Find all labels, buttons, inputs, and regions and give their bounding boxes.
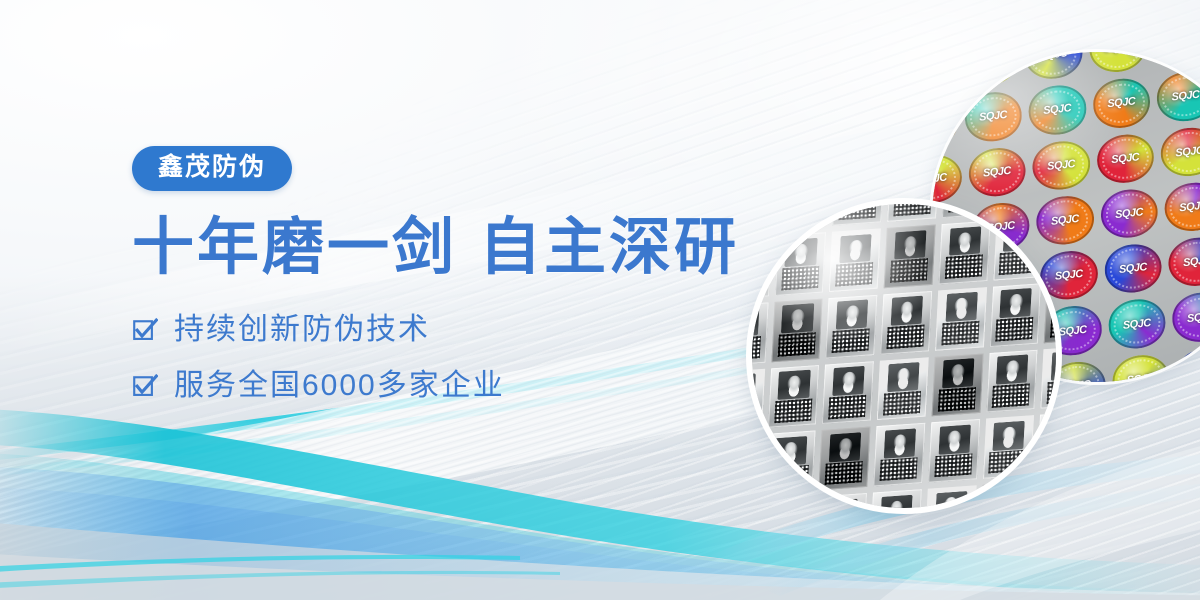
holo-label-dot: SQJC (1091, 76, 1152, 130)
label-qr-code (992, 384, 1030, 408)
label-emblem (752, 374, 755, 404)
label-emblem (839, 234, 872, 264)
list-item-label: 服务全国6000多家企业 (174, 371, 505, 401)
label-emblem (829, 433, 862, 463)
holo-label-dot: SQJC (1167, 235, 1200, 289)
label-qr-code (944, 255, 982, 279)
silver-label-square (1044, 280, 1056, 344)
silver-label-square (829, 229, 881, 293)
silver-label-square (938, 221, 990, 285)
holo-label-dot: SQJC (959, 52, 1020, 89)
holo-label-dot: SQJC (932, 152, 963, 206)
label-emblem (999, 289, 1032, 319)
label-emblem (883, 429, 916, 459)
label-qr-code (752, 403, 757, 427)
holo-label-dot: SQJC (1151, 52, 1200, 68)
promo-banner: 鑫茂防伪 十年磨一剑自主深研 持续创新防伪技术 服务全国6000多家企业 (0, 0, 1200, 600)
feature-list: 持续创新防伪技术 服务全国6000多家企业 (132, 315, 772, 401)
label-qr-code (947, 204, 985, 213)
silver-label-square (992, 217, 1044, 281)
label-emblem (938, 425, 971, 455)
silver-label-square (934, 287, 986, 351)
label-emblem (1003, 223, 1036, 253)
list-item: 持续创新防伪技术 (132, 315, 772, 345)
silver-label-square (774, 232, 826, 296)
holo-label-dot: SQJC (1103, 242, 1164, 296)
label-emblem (1043, 484, 1056, 508)
label-qr-code (1043, 446, 1056, 470)
label-qr-code (1002, 204, 1040, 209)
label-emblem (774, 437, 807, 467)
silver-label-square (1037, 412, 1056, 476)
label-qr-code (889, 259, 927, 283)
label-qr-code (835, 263, 873, 287)
label-qr-code (934, 454, 972, 478)
label-qr-code (770, 465, 808, 489)
silver-label-square (767, 365, 819, 429)
label-qr-code (937, 388, 975, 412)
label-emblem (890, 296, 923, 326)
silver-label-square (771, 299, 823, 363)
silver-label-square (887, 204, 939, 222)
list-item-label: 持续创新防伪技术 (174, 315, 430, 345)
label-emblem (880, 495, 913, 508)
silver-label-square (982, 416, 1034, 480)
label-qr-code (838, 204, 876, 221)
holo-label-dot: SQJC (1107, 297, 1168, 351)
holo-label-dot: SQJC (932, 52, 955, 95)
silver-label-square (876, 357, 928, 421)
checkbox-checked-icon (132, 373, 158, 399)
label-qr-code (824, 462, 862, 486)
label-emblem (770, 503, 803, 508)
silver-label-square (1040, 346, 1056, 410)
label-qr-code (941, 321, 979, 345)
label-emblem (1054, 285, 1056, 315)
label-emblem (948, 226, 981, 256)
list-item: 服务全国6000多家企业 (132, 371, 772, 401)
holo-label-dot: SQJC (1175, 345, 1200, 382)
holo-label-dot: SQJC (967, 145, 1028, 199)
silver-label-grid (752, 204, 1056, 508)
holo-label-dot: SQJC (1159, 125, 1200, 179)
brand-badge: 鑫茂防伪 (132, 146, 292, 191)
label-emblem (992, 421, 1025, 451)
silver-label-square (924, 486, 976, 508)
silver-label-square (752, 369, 764, 433)
silver-label-square (931, 353, 983, 417)
checkbox-checked-icon (132, 317, 158, 343)
holo-label-dot: SQJC (1087, 52, 1148, 75)
silver-label-square (941, 204, 993, 218)
silver-label-square (869, 490, 921, 508)
page-title: 十年磨一剑自主深研 (132, 215, 772, 281)
holo-label-dot: SQJC (1110, 352, 1171, 382)
holo-label-dot: SQJC (1155, 69, 1200, 123)
holo-label-dot: SQJC (932, 96, 959, 150)
label-qr-code (879, 458, 917, 482)
holo-label-dot: SQJC (1031, 138, 1092, 192)
label-emblem (752, 308, 759, 338)
label-emblem (784, 238, 817, 268)
label-qr-code (752, 270, 764, 294)
silver-label-square (764, 431, 816, 495)
holo-label-dot: SQJC (1099, 187, 1160, 241)
label-emblem (752, 242, 762, 272)
label-emblem (989, 488, 1022, 508)
label-qr-code (995, 318, 1033, 342)
label-emblem (894, 230, 927, 260)
silver-label-square (778, 204, 830, 230)
label-emblem (1047, 418, 1056, 448)
label-qr-code (886, 325, 924, 349)
headline-part-1: 十年磨一剑 (132, 213, 457, 282)
label-qr-code (773, 399, 811, 423)
silver-label-square (883, 225, 935, 289)
label-qr-code (752, 469, 753, 493)
silver-label-square (996, 204, 1048, 215)
label-emblem (781, 304, 814, 334)
label-qr-code (1053, 248, 1056, 272)
silver-label-square (815, 494, 867, 508)
silver-label-square (822, 361, 874, 425)
silver-label-square (880, 291, 932, 355)
silver-label-square (1033, 478, 1056, 508)
silver-label-square (986, 350, 1038, 414)
silver-label-photo (752, 204, 1056, 508)
label-emblem (825, 499, 858, 508)
silver-label-square (989, 283, 1041, 347)
label-qr-code (831, 329, 869, 353)
label-emblem (945, 293, 978, 323)
silver-label-square (927, 420, 979, 484)
label-emblem (941, 359, 974, 389)
holo-label-dot: SQJC (1023, 52, 1084, 82)
silver-label-square (825, 295, 877, 359)
label-qr-code (784, 204, 822, 225)
silver-label-square (1051, 204, 1056, 211)
holo-label-dot: SQJC (1095, 131, 1156, 185)
silver-label-square (979, 482, 1031, 508)
label-emblem (996, 355, 1029, 385)
label-qr-code (1046, 380, 1056, 404)
silver-label-square (752, 303, 768, 367)
label-emblem (835, 300, 868, 330)
headline-part-2: 自主深研 (479, 213, 739, 282)
label-qr-code (1050, 314, 1056, 338)
label-emblem (1050, 351, 1056, 381)
banner-content: 鑫茂防伪 十年磨一剑自主深研 持续创新防伪技术 服务全国6000多家企业 (132, 146, 772, 427)
label-qr-code (999, 251, 1037, 275)
label-qr-code (882, 391, 920, 415)
silver-label-square (752, 204, 775, 234)
holo-label-dot: SQJC (1171, 290, 1200, 344)
silver-label-square (752, 435, 761, 499)
label-qr-code (780, 267, 818, 291)
silver-label-square (818, 427, 870, 491)
label-qr-code (752, 204, 767, 228)
label-qr-code (988, 450, 1026, 474)
silver-label-square (832, 204, 884, 226)
label-qr-code (893, 204, 931, 217)
label-emblem (777, 370, 810, 400)
silver-label-square (752, 501, 757, 508)
holo-label-dot: SQJC (1163, 180, 1200, 234)
silver-label-square (760, 497, 812, 508)
label-qr-code (777, 333, 815, 357)
holo-label-dot: SQJC (1027, 83, 1088, 137)
label-emblem (887, 363, 920, 393)
label-qr-code (828, 395, 866, 419)
silver-label-square (1047, 213, 1056, 277)
label-emblem (832, 367, 865, 397)
silver-label-square (752, 236, 771, 300)
holo-label-dot: SQJC (963, 90, 1024, 144)
silver-label-square (873, 424, 925, 488)
label-emblem (934, 491, 967, 508)
label-qr-code (752, 337, 760, 361)
